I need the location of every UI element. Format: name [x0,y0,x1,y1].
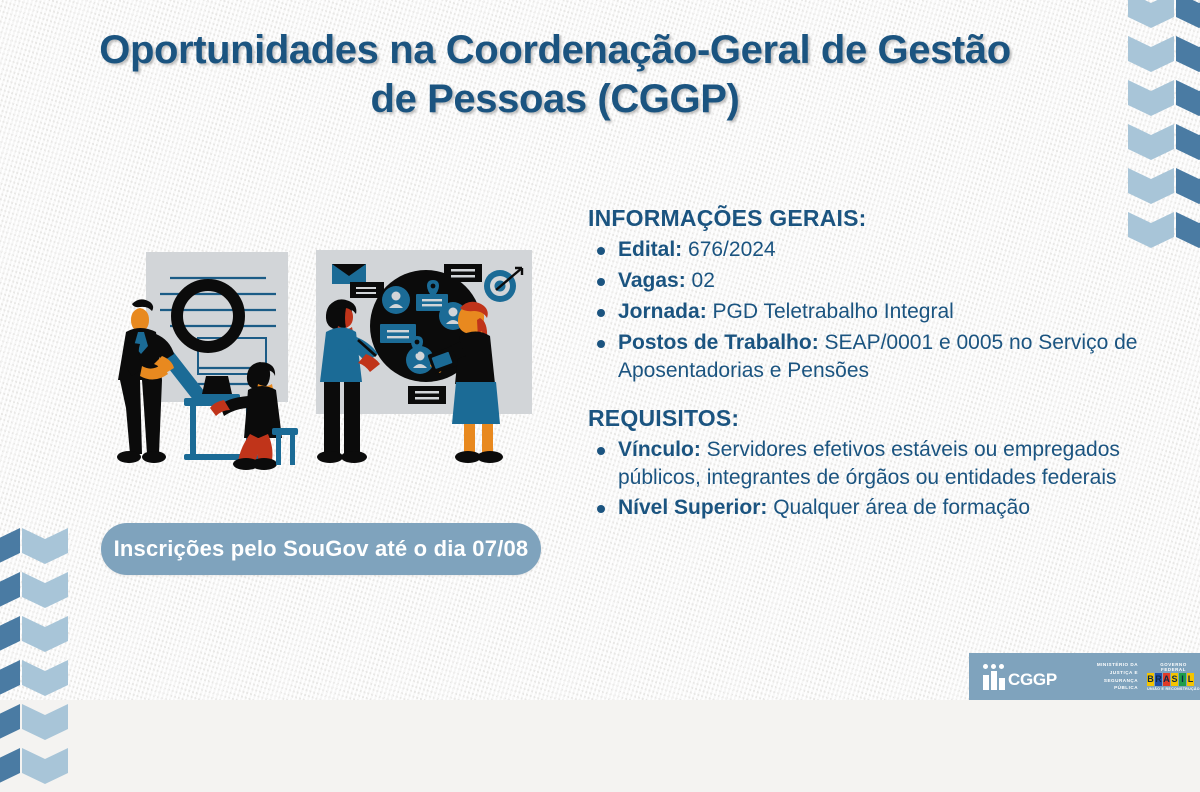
ministerio-da-justica-logo: MINISTÉRIO DA JUSTIÇA E SEGURANÇA PÚBLIC… [1079,661,1138,692]
chevron-shape [1176,212,1200,248]
chevron-shape [22,616,68,652]
chevron-shape [1128,168,1174,204]
inscription-deadline-badge: Inscrições pelo SouGov até o dia 07/08 [101,523,541,575]
informacoes-gerais-item-value: 676/2024 [688,238,776,261]
bullet-dot-icon [597,278,605,286]
cggp-logo-text: CGGP [1008,670,1057,690]
bullet-dot-icon [597,309,605,317]
ministerio-line-2: JUSTIÇA E [1079,669,1138,677]
requisitos-item-label: Nível Superior: [618,496,773,519]
chevron-decoration-bottom-left-dark [0,528,20,792]
chevron-shape [1176,168,1200,204]
chevron-shape [1128,124,1174,160]
illustration-people-working [108,238,548,498]
chevron-shape [22,704,68,740]
informacoes-gerais-item-label: Edital: [618,238,688,261]
brasil-wordmark: B R A S I L [1147,673,1200,686]
bullet-dot-icon [597,247,605,255]
chevron-decoration-bottom-left-light [22,528,68,792]
informacoes-gerais-item: Postos de Trabalho: SEAP/0001 e 0005 no … [588,329,1148,385]
chevron-shape [1176,0,1200,28]
cggp-logo: CGGP [983,664,1057,690]
informacoes-gerais-item-value: 02 [692,269,715,292]
informacoes-gerais-item-label: Vagas: [618,269,692,292]
chevron-shape [1128,36,1174,72]
inscription-deadline-text: Inscrições pelo SouGov até o dia 07/08 [114,536,529,562]
governo-federal-label: GOVERNO FEDERAL [1147,662,1200,672]
chevron-shape [0,572,20,608]
uniao-reconstrucao-label: UNIÃO E RECONSTRUÇÃO [1147,687,1200,691]
page-title-line-1: Oportunidades na Coordenação-Geral de Ge… [0,26,1110,75]
chevron-shape [0,528,20,564]
chevron-shape [22,528,68,564]
chevron-shape [22,748,68,784]
requisitos-item: Nível Superior: Qualquer área de formaçã… [588,494,1148,522]
chevron-shape [0,660,20,696]
chevron-shape [22,572,68,608]
informacoes-gerais-item-value: PGD Teletrabalho Integral [713,300,954,323]
informacoes-gerais-heading: INFORMAÇÕES GERAIS: [588,205,1148,232]
chevron-shape [1176,36,1200,72]
ministerio-line-1: MINISTÉRIO DA [1079,661,1138,669]
informacoes-gerais-item: Jornada: PGD Teletrabalho Integral [588,298,1148,326]
ministerio-line-3: SEGURANÇA PÚBLICA [1079,677,1138,693]
page-title-line-2: de Pessoas (CGGP) [0,75,1110,124]
bullet-dot-icon [597,447,605,455]
requisitos-item-value: Qualquer área de formação [773,496,1030,519]
informacoes-gerais-item: Vagas: 02 [588,267,1148,295]
chevron-shape [0,748,20,784]
chevron-shape [0,704,20,740]
chevron-shape [22,660,68,696]
page-title: Oportunidades na Coordenação-Geral de Ge… [0,26,1110,124]
bullet-dot-icon [597,340,605,348]
chevron-shape [1128,0,1174,28]
informacoes-gerais-item-label: Postos de Trabalho: [618,331,825,354]
chevron-shape [1176,124,1200,160]
bullet-dot-icon [597,505,605,513]
informacoes-gerais-item-label: Jornada: [618,300,713,323]
requisitos-heading: REQUISITOS: [588,405,1148,432]
chevron-shape [1128,80,1174,116]
requisitos-item: Vínculo: Servidores efetivos estáveis ou… [588,436,1148,492]
chevron-shape [0,616,20,652]
chevron-shape [1176,80,1200,116]
footer-logo-band: CGGP MINISTÉRIO DA JUSTIÇA E SEGURANÇA P… [969,653,1200,700]
chevron-decoration-top-right-dark [1176,0,1200,256]
info-column: INFORMAÇÕES GERAIS: Edital: 676/2024Vaga… [588,205,1148,525]
requisitos-item-label: Vínculo: [618,438,707,461]
cggp-people-heads-icon [983,664,1004,669]
informacoes-gerais-item: Edital: 676/2024 [588,236,1148,264]
informacoes-gerais-list: Edital: 676/2024Vagas: 02Jornada: PGD Te… [588,236,1148,385]
governo-federal-brasil-logo: GOVERNO FEDERAL B R A S I L UNIÃO E RECO… [1147,662,1200,691]
cggp-people-bodies-icon [983,671,1005,690]
requisitos-list: Vínculo: Servidores efetivos estáveis ou… [588,436,1148,523]
